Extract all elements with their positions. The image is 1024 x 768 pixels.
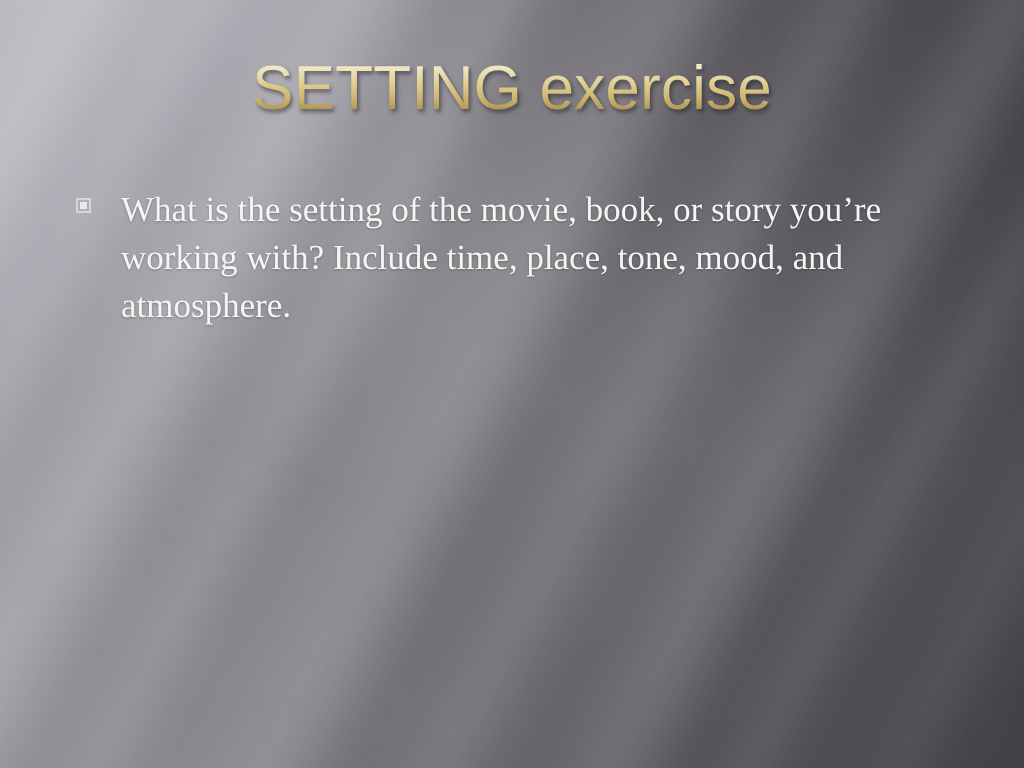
bullet-marker (76, 186, 121, 213)
square-in-square-bullet-icon (76, 198, 91, 213)
slide-content: SETTING exercise What is the setting of … (0, 0, 1024, 768)
slide-body-bullet-list: What is the setting of the movie, book, … (76, 186, 976, 330)
presentation-slide: SETTING exercise What is the setting of … (0, 0, 1024, 768)
slide-title: SETTING exercise (0, 56, 1024, 121)
bullet-text: What is the setting of the movie, book, … (121, 186, 956, 330)
